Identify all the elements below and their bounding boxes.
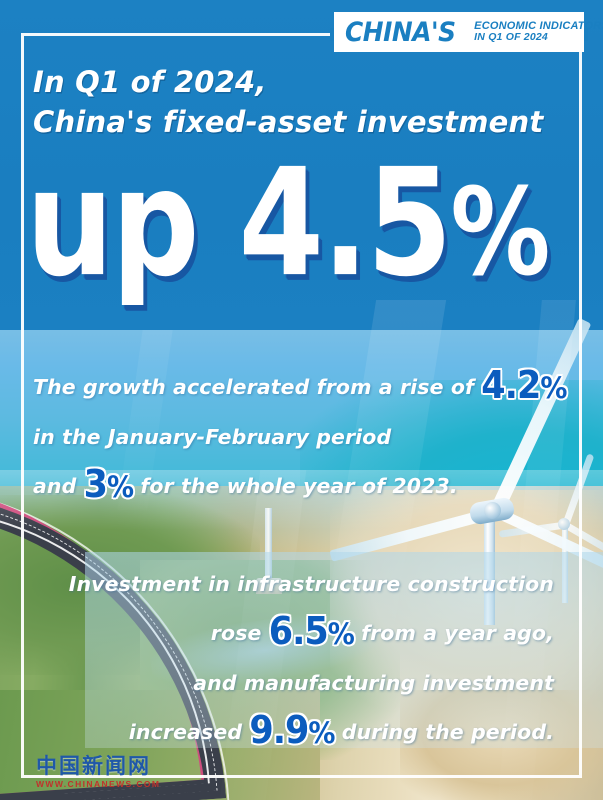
middle-line-1-text: The growth accelerated from a rise of (33, 375, 474, 399)
bottom-line-1: Investment in infrastructure constructio… (0, 560, 554, 608)
infographic-poster: CHINA'S ECONOMIC INDICATORS IN Q1 OF 202… (0, 0, 603, 800)
bottom-line-2-pre: rose (211, 621, 262, 645)
bottom-line-4-pre: increased (129, 720, 242, 744)
middle-stat-3-unit: % (107, 471, 133, 505)
watermark: 中国新闻网 WWW.CHINANEWS.COM (36, 756, 216, 789)
hero-word: up (26, 137, 198, 310)
bottom-line-2: rose 6.5% from a year ago, (0, 608, 554, 659)
headline-line-2: China's fixed-asset investment (33, 102, 573, 142)
middle-stat-4-2: 4.2% (481, 359, 566, 415)
hero-value: 4.5 (238, 137, 450, 310)
bottom-line-4-post: during the period. (342, 720, 554, 744)
title-badge: CHINA'S ECONOMIC INDICATORS IN Q1 OF 202… (334, 12, 584, 52)
bottom-stat-9-9-unit: % (308, 717, 334, 751)
middle-line-3: and 3% for the whole year of 2023. (33, 461, 573, 512)
badge-main-title: CHINA'S (345, 19, 456, 46)
badge-subtitle: ECONOMIC INDICATORS IN Q1 OF 2024 (474, 20, 603, 44)
middle-line-2: in the January-February period (33, 413, 573, 461)
hero-unit: % (450, 162, 548, 304)
badge-subtitle-line2: IN Q1 OF 2024 (474, 32, 603, 44)
middle-stat-3: 3% (84, 458, 133, 514)
bottom-line-4: increased 9.9% during the period. (0, 707, 554, 758)
headline: In Q1 of 2024, China's fixed-asset inves… (33, 62, 573, 142)
watermark-chinese-logo: 中国新闻网 (36, 756, 216, 777)
bottom-stat-6-5: 6.5% (269, 605, 354, 661)
middle-stat-4-2-value: 4.2 (481, 364, 540, 408)
watermark-url: WWW.CHINANEWS.COM (36, 779, 216, 789)
bottom-stat-9-9-value: 9.9 (249, 709, 308, 753)
middle-line-1: The growth accelerated from a rise of 4.… (33, 362, 573, 413)
middle-text-block: The growth accelerated from a rise of 4.… (33, 362, 573, 512)
bottom-line-3: and manufacturing investment (0, 659, 554, 707)
bottom-text-block: Investment in infrastructure constructio… (0, 560, 570, 758)
bottom-line-2-post: from a year ago, (361, 621, 554, 645)
bottom-stat-6-5-unit: % (328, 618, 354, 652)
bottom-stat-9-9: 9.9% (249, 704, 334, 760)
middle-stat-4-2-unit: % (540, 372, 566, 406)
bottom-stat-6-5-value: 6.5 (269, 610, 328, 654)
middle-line-3-pre: and (33, 474, 76, 498)
middle-stat-3-value: 3 (84, 463, 107, 507)
middle-line-3-post: for the whole year of 2023. (140, 474, 457, 498)
headline-line-1: In Q1 of 2024, (33, 62, 573, 102)
hero-statistic: up 4.5% (26, 150, 559, 301)
